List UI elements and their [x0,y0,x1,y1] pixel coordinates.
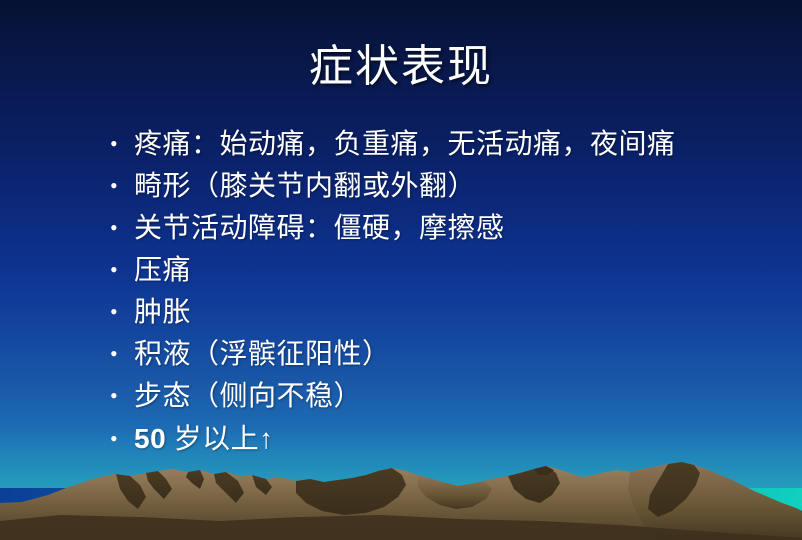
list-item: • 50 岁以上↑ [110,418,790,460]
bullet-dot-icon: • [110,123,134,165]
bullet-dot-icon: • [110,291,134,333]
bullet-text: 步态（侧向不稳） [134,376,790,418]
bullet-dot-icon: • [110,249,134,291]
list-item: • 肿胀 [110,292,790,334]
bullet-dot-icon: • [110,333,134,375]
list-item: • 关节活动障碍：僵硬，摩擦感 [110,208,790,250]
bullet-text: 疼痛：始动痛，负重痛，无活动痛，夜间痛 [134,124,790,166]
list-item: • 积液（浮髌征阳性） [110,334,790,376]
bullet-dot-icon: • [110,418,134,460]
list-item: • 压痛 [110,250,790,292]
bullet-text: 肿胀 [134,292,790,334]
bullet-text: 50 岁以上↑ [134,418,790,461]
bullet-text: 畸形（膝关节内翻或外翻） [134,166,790,208]
age-number: 50 [134,423,166,454]
list-item: • 步态（侧向不稳） [110,376,790,418]
bullet-text: 关节活动障碍：僵硬，摩擦感 [134,208,790,250]
list-item: • 疼痛：始动痛，负重痛，无活动痛，夜间痛 [110,124,790,166]
mountain-range-graphic [0,455,802,540]
list-item: • 畸形（膝关节内翻或外翻） [110,166,790,208]
bullet-dot-icon: • [110,165,134,207]
age-suffix: 岁以上↑ [166,424,274,455]
bullet-dot-icon: • [110,375,134,417]
bullet-text: 积液（浮髌征阳性） [134,334,790,376]
bullet-dot-icon: • [110,207,134,249]
bullet-list: • 疼痛：始动痛，负重痛，无活动痛，夜间痛 • 畸形（膝关节内翻或外翻） • 关… [110,124,790,460]
slide-title: 症状表现 [0,40,802,94]
slide-canvas: 症状表现 • 疼痛：始动痛，负重痛，无活动痛，夜间痛 • 畸形（膝关节内翻或外翻… [0,0,802,540]
bullet-text: 压痛 [134,250,790,292]
